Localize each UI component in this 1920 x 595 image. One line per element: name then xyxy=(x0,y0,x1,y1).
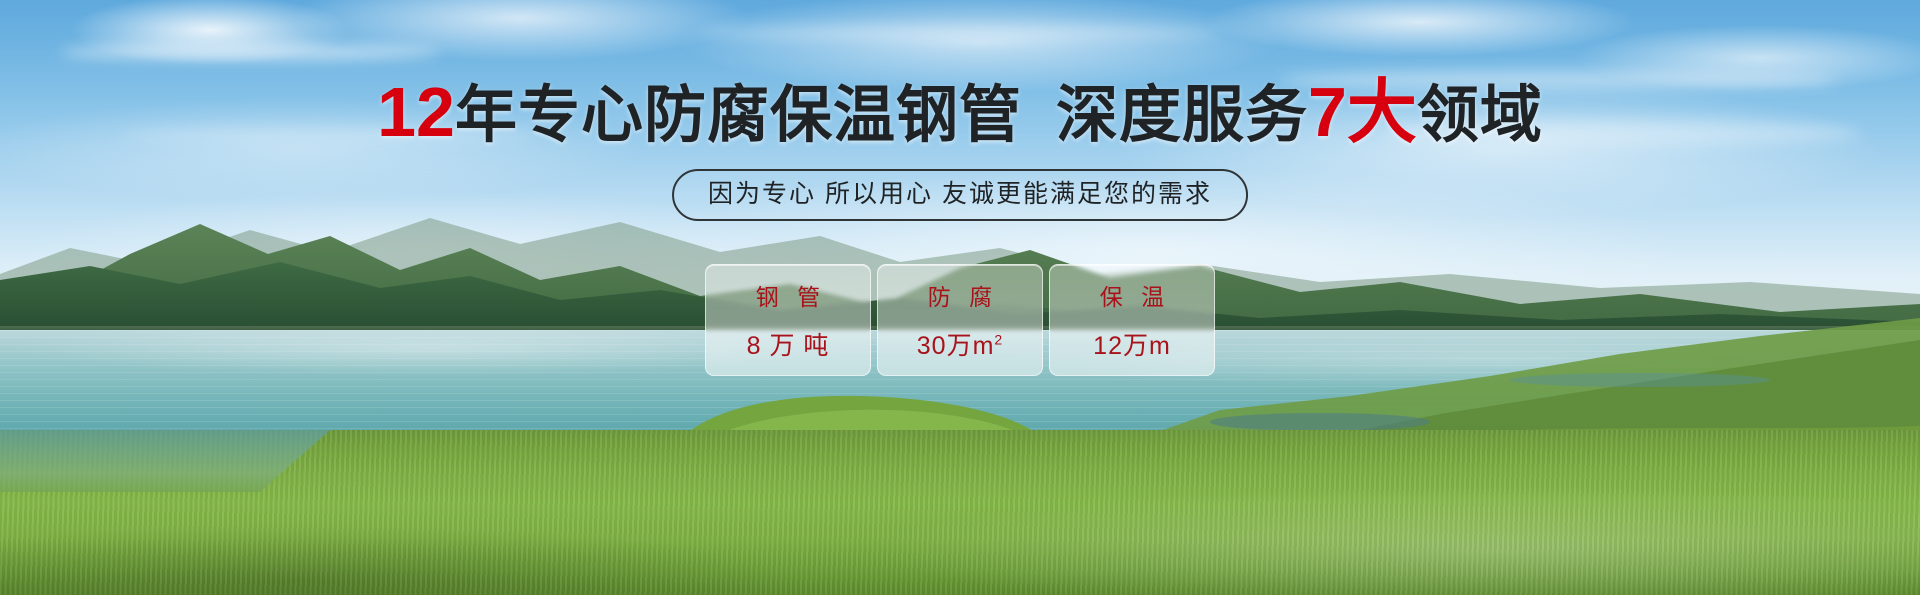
slogan-text: 因为专心 所以用心 友诚更能满足您的需求 xyxy=(708,180,1212,208)
headline: 12年专心防腐保温钢管深度服务7大领域 xyxy=(0,76,1920,152)
slogan-pill: 因为专心 所以用心 友诚更能满足您的需求 xyxy=(672,169,1248,221)
stat-value-text: 12万m xyxy=(1093,332,1171,360)
cloud-streak-2 xyxy=(700,26,1220,40)
headline-part1: 年专心防腐保温钢管 xyxy=(455,81,1022,150)
headline-big-char: 大 xyxy=(1347,73,1417,151)
hero-banner: 12年专心防腐保温钢管深度服务7大领域 因为专心 所以用心 友诚更能满足您的需求… xyxy=(0,0,1920,595)
stat-label: 钢 管 xyxy=(750,278,826,312)
stat-value-text: 30万m xyxy=(917,332,995,360)
stat-card-steel-pipe[interactable]: 钢 管 8 万 吨 xyxy=(705,264,871,376)
stat-card-anticorrosion[interactable]: 防 腐 30万m2 xyxy=(877,264,1043,376)
stat-value: 8 万 吨 xyxy=(747,326,830,362)
stat-label: 防 腐 xyxy=(922,278,998,312)
stat-value: 12万m xyxy=(1093,326,1171,362)
stat-value-exponent: 2 xyxy=(994,332,1003,348)
stat-value: 30万m2 xyxy=(917,326,1003,362)
headline-count: 7 xyxy=(1308,73,1347,151)
stat-label: 保 温 xyxy=(1094,278,1170,312)
stat-value-text: 8 万 吨 xyxy=(747,332,830,360)
stat-cards: 钢 管 8 万 吨 防 腐 30万m2 保 温 12万m xyxy=(705,264,1215,376)
headline-part2: 深度服务 xyxy=(1056,81,1308,150)
stat-card-insulation[interactable]: 保 温 12万m xyxy=(1049,264,1215,376)
headline-part3: 领域 xyxy=(1417,81,1543,150)
cloud-streak-1 xyxy=(60,44,440,60)
headline-years: 12 xyxy=(377,73,455,151)
